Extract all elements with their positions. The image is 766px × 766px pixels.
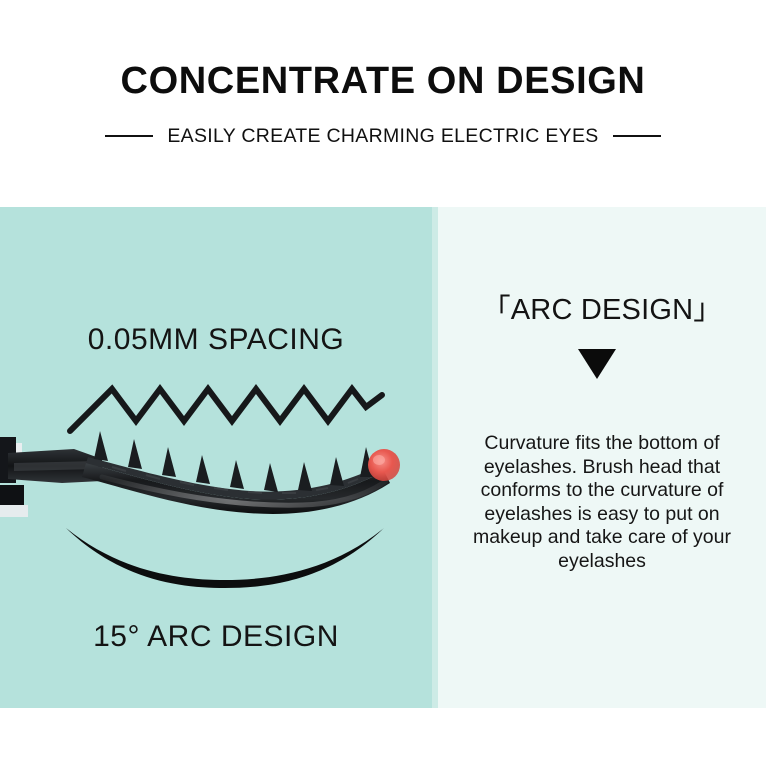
header: CONCENTRATE ON DESIGN EASILY CREATE CHAR…: [0, 0, 766, 207]
right-feature-panel: 「ARC DESIGN」 Curvature fits the bottom o…: [438, 207, 766, 708]
arc-design-heading: 「ARC DESIGN」: [438, 292, 766, 328]
arc-curve-icon: [60, 522, 390, 594]
footer-spacer: [0, 708, 766, 766]
feature-panels: 0.05MM SPACING: [0, 207, 766, 708]
product-image-eyelash-comb: [0, 419, 432, 539]
arc-design-label: 15° ARC DESIGN: [0, 619, 432, 655]
arc-design-description: Curvature fits the bottom of eyelashes. …: [452, 432, 752, 573]
left-feature-panel: 0.05MM SPACING: [0, 207, 432, 708]
triangle-down-icon: [578, 349, 616, 379]
page-subtitle: EASILY CREATE CHARMING ELECTRIC EYES: [167, 124, 598, 148]
subtitle-rule-right: [613, 135, 661, 137]
page-title: CONCENTRATE ON DESIGN: [0, 58, 766, 104]
spacing-label: 0.05MM SPACING: [0, 322, 432, 358]
subtitle-rule-left: [105, 135, 153, 137]
subtitle-row: EASILY CREATE CHARMING ELECTRIC EYES: [0, 124, 766, 148]
